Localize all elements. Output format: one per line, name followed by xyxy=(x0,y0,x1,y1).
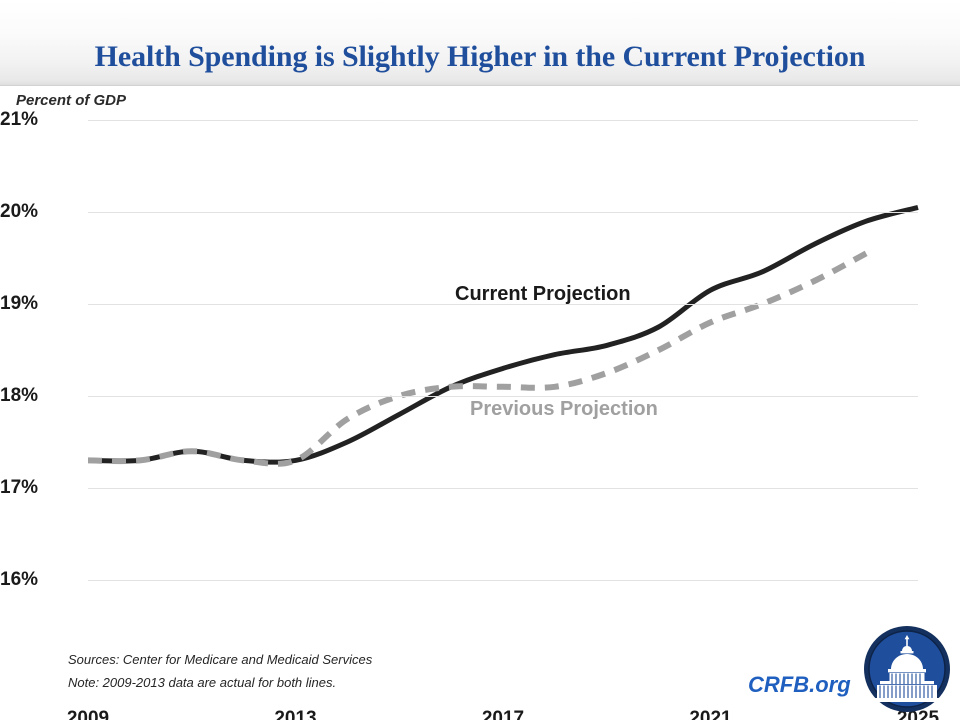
header-band: Health Spending is Slightly Higher in th… xyxy=(0,0,960,86)
x-axis-tick-label: 2013 xyxy=(241,708,351,720)
series-label-previous: Previous Projection xyxy=(470,398,658,421)
crfb-wordmark[interactable]: CRFB.org xyxy=(748,672,851,698)
y-axis-tick-label: 17% xyxy=(0,477,74,499)
line-chart-svg xyxy=(88,120,918,580)
y-axis-tick-label: 16% xyxy=(0,569,74,591)
gridline xyxy=(88,580,918,581)
chart-page: Health Spending is Slightly Higher in th… xyxy=(0,0,960,720)
series-label-current: Current Projection xyxy=(455,283,631,306)
y-axis-tick-label: 21% xyxy=(0,109,74,131)
x-axis-tick-label: 2009 xyxy=(33,708,143,720)
plot-area: 21%20%19%18%17%16%20092013201720212025 xyxy=(88,120,918,580)
y-axis-tick-label: 20% xyxy=(0,201,74,223)
gridline xyxy=(88,488,918,489)
gridline xyxy=(88,120,918,121)
y-axis-title: Percent of GDP xyxy=(16,92,126,109)
source-note: Sources: Center for Medicare and Medicai… xyxy=(68,652,372,667)
x-axis-tick-label: 2017 xyxy=(448,708,558,720)
y-axis-tick-label: 19% xyxy=(0,293,74,315)
capitol-dome-icon xyxy=(862,624,952,714)
x-axis-tick-label: 2021 xyxy=(656,708,766,720)
page-title: Health Spending is Slightly Higher in th… xyxy=(0,40,960,74)
gridline xyxy=(88,212,918,213)
gridline xyxy=(88,396,918,397)
y-axis-tick-label: 18% xyxy=(0,385,74,407)
series-line-current-projection xyxy=(88,207,918,462)
data-note: Note: 2009-2013 data are actual for both… xyxy=(68,675,336,690)
